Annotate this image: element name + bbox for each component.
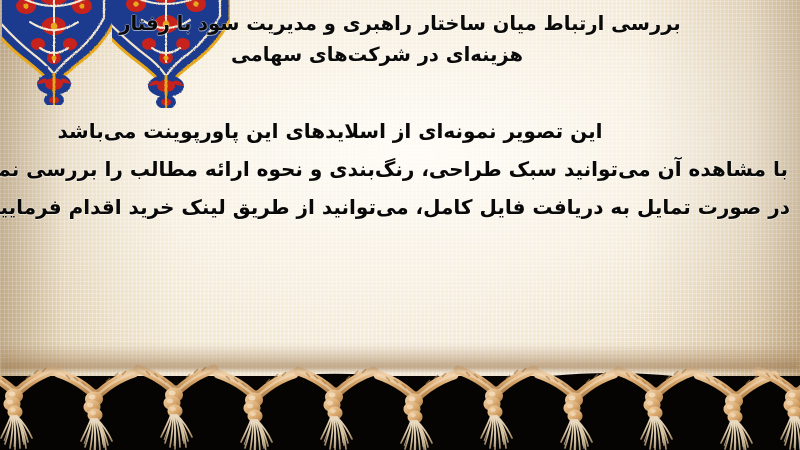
fringe-drop-shadow [0, 344, 800, 370]
persian-medallion-ornament-left [2, 0, 120, 105]
persian-medallion-ornament-right [112, 0, 230, 108]
slide-canvas: بررسی ارتباط میان ساختار راهبری و مدیریت… [0, 0, 800, 450]
tassel-fringe [0, 360, 800, 450]
